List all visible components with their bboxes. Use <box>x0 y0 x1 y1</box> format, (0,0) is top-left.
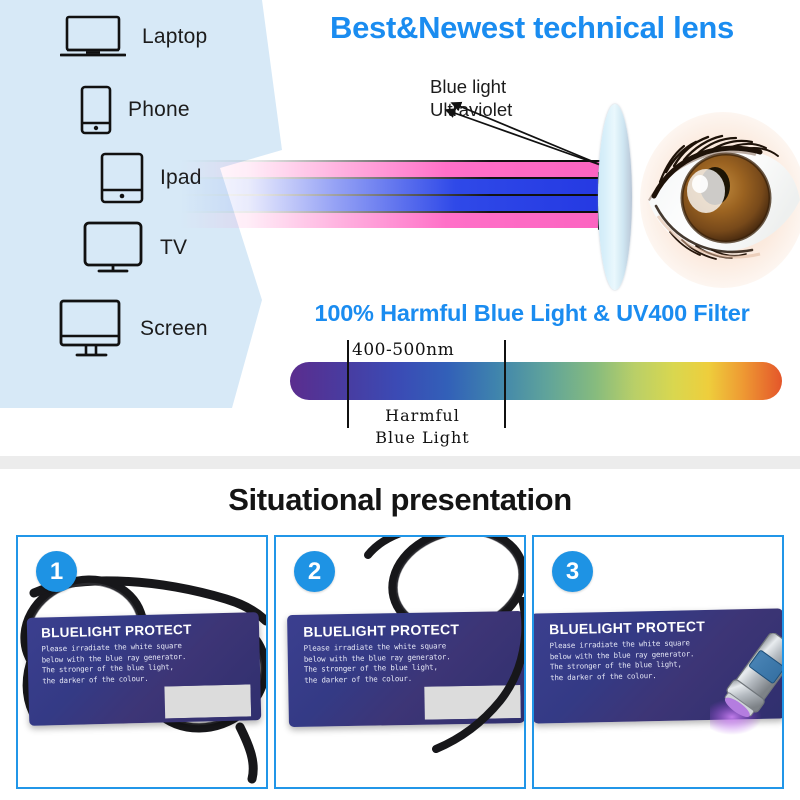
strip-white-area <box>424 685 521 720</box>
device-label: Phone <box>128 98 190 122</box>
situation-card-3[interactable]: 3 BLUELIGHT PROTECT Please irradiate the… <box>532 535 784 789</box>
section-divider <box>0 456 800 469</box>
test-card-strip <box>542 680 781 719</box>
bottom-section: Situational presentation 1 BLUELIGHT PRO… <box>0 469 800 800</box>
device-row-phone: Phone <box>80 85 190 135</box>
test-card-title: BLUELIGHT PROTECT <box>549 618 705 637</box>
step-badge: 2 <box>294 551 335 592</box>
situation-card-2[interactable]: 2 BLUELIGHT PROTECT Please irradiate the… <box>274 535 526 789</box>
device-label: Screen <box>140 317 208 341</box>
ray-band-pink-bottom <box>180 213 610 228</box>
bluelight-test-card: BLUELIGHT PROTECT Please irradiate the w… <box>287 611 525 727</box>
strip-purple-area <box>542 680 781 719</box>
top-section: Laptop Phone Ipad TV <box>0 0 800 455</box>
device-label: Laptop <box>142 25 207 49</box>
situation-card-1[interactable]: 1 BLUELIGHT PROTECT Please irradiate the… <box>16 535 268 789</box>
ray-band-blue-2 <box>180 196 610 211</box>
laptop-icon <box>60 14 126 60</box>
harmful-line-2: Blue Light <box>290 427 555 449</box>
lens-graphic <box>598 104 632 290</box>
test-card-strip <box>296 685 521 722</box>
card-gallery: 1 BLUELIGHT PROTECT Please irradiate the… <box>16 535 784 785</box>
device-label: TV <box>160 236 187 260</box>
bluelight-test-card: BLUELIGHT PROTECT Please irradiate the w… <box>532 608 784 723</box>
phone-icon <box>80 85 112 135</box>
test-card-body: Please irradiate the white square below … <box>41 641 186 687</box>
harmful-line-1: Harmful <box>290 405 555 427</box>
bluelight-test-card: BLUELIGHT PROTECT Please irradiate the w… <box>27 612 262 726</box>
body-line-4: the darker of the colour. <box>304 673 451 686</box>
monitor-icon <box>58 298 124 360</box>
device-row-tv: TV <box>82 220 187 276</box>
infographic-page: Laptop Phone Ipad TV <box>0 0 800 800</box>
test-card-strip <box>38 684 251 721</box>
page-title: Best&Newest technical lens <box>272 11 792 45</box>
harmful-blue-light-label: Harmful Blue Light <box>290 405 555 448</box>
reflected-rays <box>425 95 615 185</box>
test-card-title: BLUELIGHT PROTECT <box>41 622 192 641</box>
strip-purple-area <box>296 687 425 722</box>
test-card-body: Please irradiate the white square below … <box>549 638 694 683</box>
tv-icon <box>82 220 144 276</box>
test-card-title: BLUELIGHT PROTECT <box>303 621 459 640</box>
spectrum-bar <box>290 362 782 400</box>
step-badge: 1 <box>36 551 77 592</box>
step-badge: 3 <box>552 551 593 592</box>
strip-white-area <box>164 684 251 718</box>
eye-illustration <box>640 108 800 288</box>
strip-purple-area <box>38 687 165 722</box>
device-row-laptop: Laptop <box>60 14 207 60</box>
device-row-screen: Screen <box>58 298 208 360</box>
filter-title: 100% Harmful Blue Light & UV400 Filter <box>272 300 792 327</box>
body-line-4: the darker of the colour. <box>550 670 695 684</box>
spectrum-diagram: 400-500nm Harmful Blue Light <box>290 340 790 446</box>
test-card-body: Please irradiate the white square below … <box>304 641 451 686</box>
tablet-icon <box>100 152 144 204</box>
wavelength-range-label: 400-500nm <box>352 340 454 360</box>
section-title: Situational presentation <box>0 482 800 518</box>
